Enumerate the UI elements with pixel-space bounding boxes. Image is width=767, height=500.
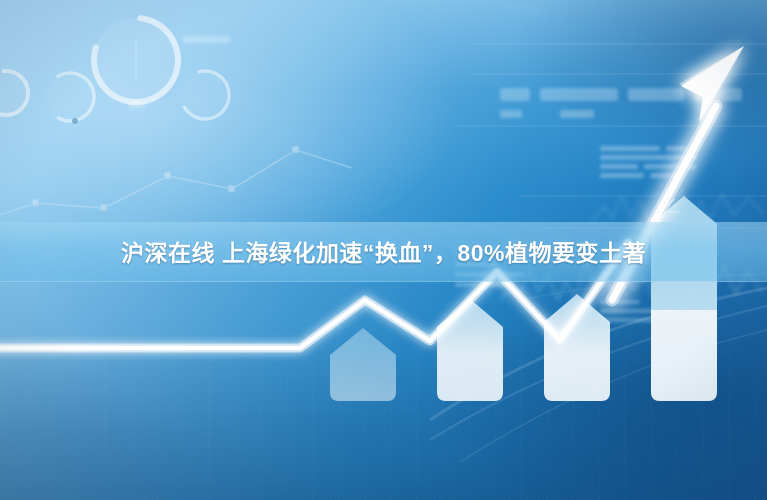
hero-banner: 沪深在线 上海绿化加速“换血”，80%植物要变土著 (0, 0, 767, 500)
grain-overlay (0, 0, 767, 500)
